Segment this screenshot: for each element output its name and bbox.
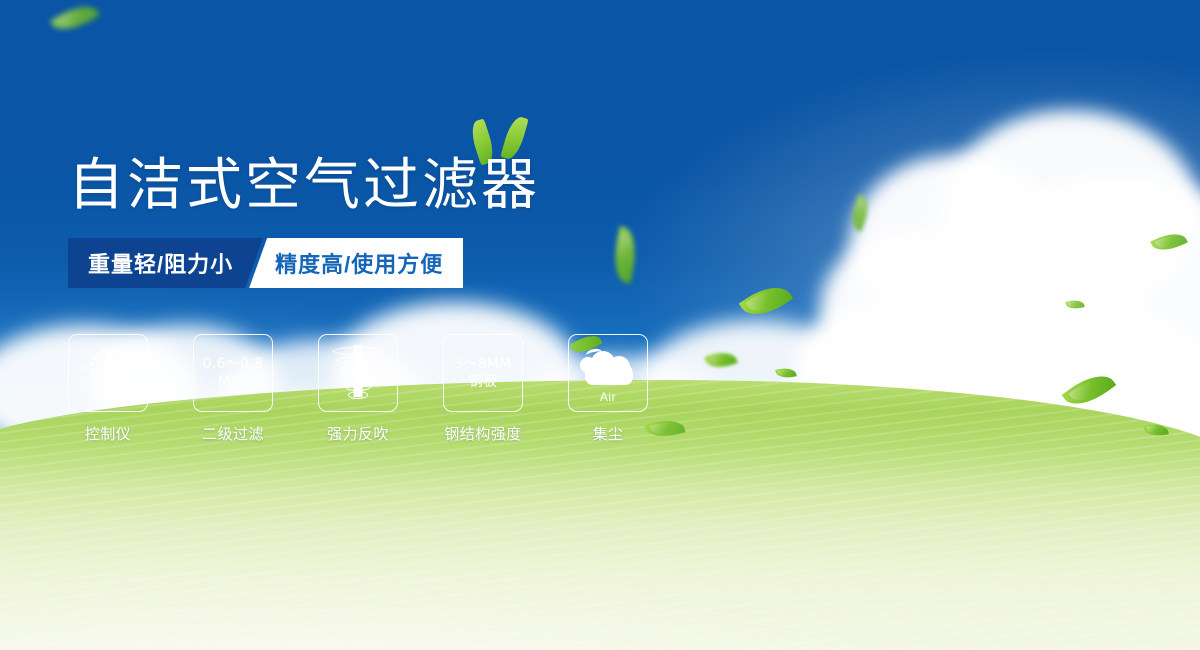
feature-caption: 二级过滤 (193, 423, 273, 444)
feature-caption: 控制仪 (68, 423, 148, 444)
cloud-body-icon (585, 359, 633, 385)
leaf-icon (50, 0, 100, 38)
feature-icon-box: NO OFF (68, 334, 148, 412)
feature-item-steel[interactable]: 3～8MM 钢板 钢结构强度 (443, 334, 523, 444)
filter-ring-icon (345, 383, 371, 391)
steel-plate-icon: 3～8MM 钢板 (454, 355, 511, 391)
air-label: Air (575, 390, 641, 404)
pressure-unit: MPA (203, 373, 264, 391)
feature-icon-box (318, 334, 398, 412)
page-title: 自洁式空气过滤器 (68, 140, 540, 221)
feature-item-blowback[interactable]: 强力反吹 (318, 334, 398, 444)
feature-caption: 集尘 (568, 423, 648, 444)
feature-item-controller[interactable]: NO OFF 控制仪 (68, 334, 148, 444)
subtitle-bar: 重量轻/阻力小 精度高/使用方便 (68, 238, 463, 288)
gauge-needle-icon (105, 352, 114, 392)
filter-ring-icon (339, 365, 377, 373)
gauge-label-off: OFF (117, 389, 130, 395)
product-banner: 自洁式空气过滤器 重量轻/阻力小 精度高/使用方便 NO OFF 控制仪 0.6… (0, 0, 1200, 650)
feature-caption: 强力反吹 (318, 423, 398, 444)
pressure-icon: 0.6～0.8 MPA (203, 355, 264, 391)
subtitle-right: 精度高/使用方便 (249, 238, 463, 288)
gauge-label-no: NO (77, 366, 87, 372)
filter-ring-icon (333, 347, 383, 355)
filter-ring-icon (336, 356, 380, 364)
feature-item-dust[interactable]: Air 集尘 (568, 334, 648, 444)
air-cloud-icon: Air (575, 343, 641, 403)
steel-thickness: 3～8MM (454, 355, 511, 373)
filter-ring-icon (348, 391, 368, 399)
subtitle-left: 重量轻/阻力小 (68, 238, 263, 288)
feature-icon-box: 3～8MM 钢板 (443, 334, 523, 412)
pressure-value: 0.6～0.8 (203, 355, 264, 373)
feature-list: NO OFF 控制仪 0.6～0.8 MPA 二级过滤 (68, 334, 648, 444)
gauge-icon: NO OFF (77, 344, 139, 402)
steel-material: 钢板 (454, 373, 511, 391)
feature-caption: 钢结构强度 (443, 423, 523, 444)
feature-item-two-stage[interactable]: 0.6～0.8 MPA 二级过滤 (193, 334, 273, 444)
feature-icon-box: 0.6～0.8 MPA (193, 334, 273, 412)
filter-stack-icon (331, 345, 385, 401)
feature-icon-box: Air (568, 334, 648, 412)
filter-ring-icon (342, 374, 374, 382)
